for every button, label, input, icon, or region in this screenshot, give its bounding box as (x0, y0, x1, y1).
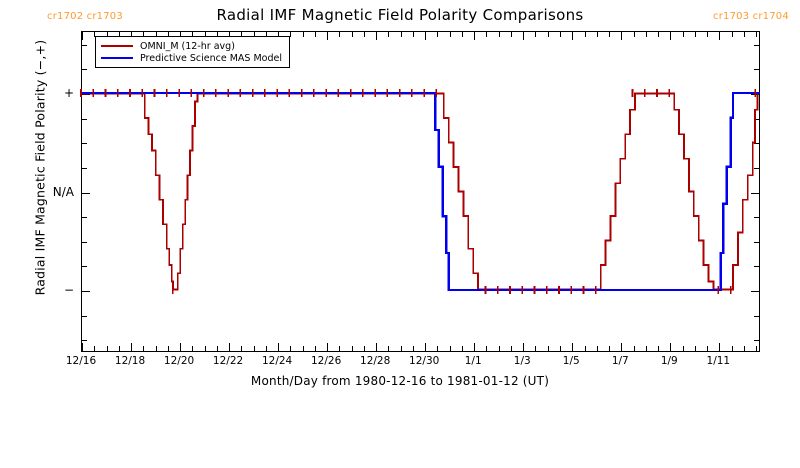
legend-label-mas: Predictive Science MAS Model (140, 53, 282, 64)
y-axis-tick-label: + (36, 86, 74, 100)
legend: OMNI_M (12-hr avg) Predictive Science MA… (95, 36, 290, 68)
x-axis-tick-label: 12/30 (409, 355, 439, 367)
x-axis-tick-label: 12/24 (262, 355, 292, 367)
x-axis-title: Month/Day from 1980-12-16 to 1981-01-12 … (0, 374, 800, 388)
legend-swatch-mas (101, 57, 133, 60)
x-axis-tick-label: 1/5 (563, 355, 580, 367)
y-axis-title: Radial IMF Magnetic Field Polarity (−,+) (33, 0, 48, 468)
series-line-omni (81, 93, 758, 289)
y-axis-tick-label: − (36, 283, 74, 297)
series-line-mas (81, 93, 760, 290)
x-axis-tick-label: 1/3 (514, 355, 531, 367)
x-axis-tick-label: 1/11 (707, 355, 731, 367)
x-axis-tick-label: 12/18 (115, 355, 145, 367)
x-axis-tick-label: 12/28 (360, 355, 390, 367)
legend-item-mas: Predictive Science MAS Model (101, 52, 282, 64)
x-axis-tick-label: 1/7 (612, 355, 629, 367)
x-axis-tick-label: 1/1 (465, 355, 482, 367)
legend-swatch-omni (101, 45, 133, 48)
x-axis-tick-label: 1/9 (661, 355, 678, 367)
legend-item-omni: OMNI_M (12-hr avg) (101, 40, 282, 52)
plot-canvas: cr1702 cr1703 cr1703 cr1704 Radial IMF M… (0, 0, 800, 400)
legend-label-omni: OMNI_M (12-hr avg) (140, 41, 235, 52)
x-axis-tick-label: 12/16 (66, 355, 96, 367)
x-axis-tick-label: 12/22 (213, 355, 243, 367)
y-axis-tick-label: N/A (36, 185, 74, 199)
x-axis-tick-label: 12/20 (164, 355, 194, 367)
x-axis-tick-label: 12/26 (311, 355, 341, 367)
